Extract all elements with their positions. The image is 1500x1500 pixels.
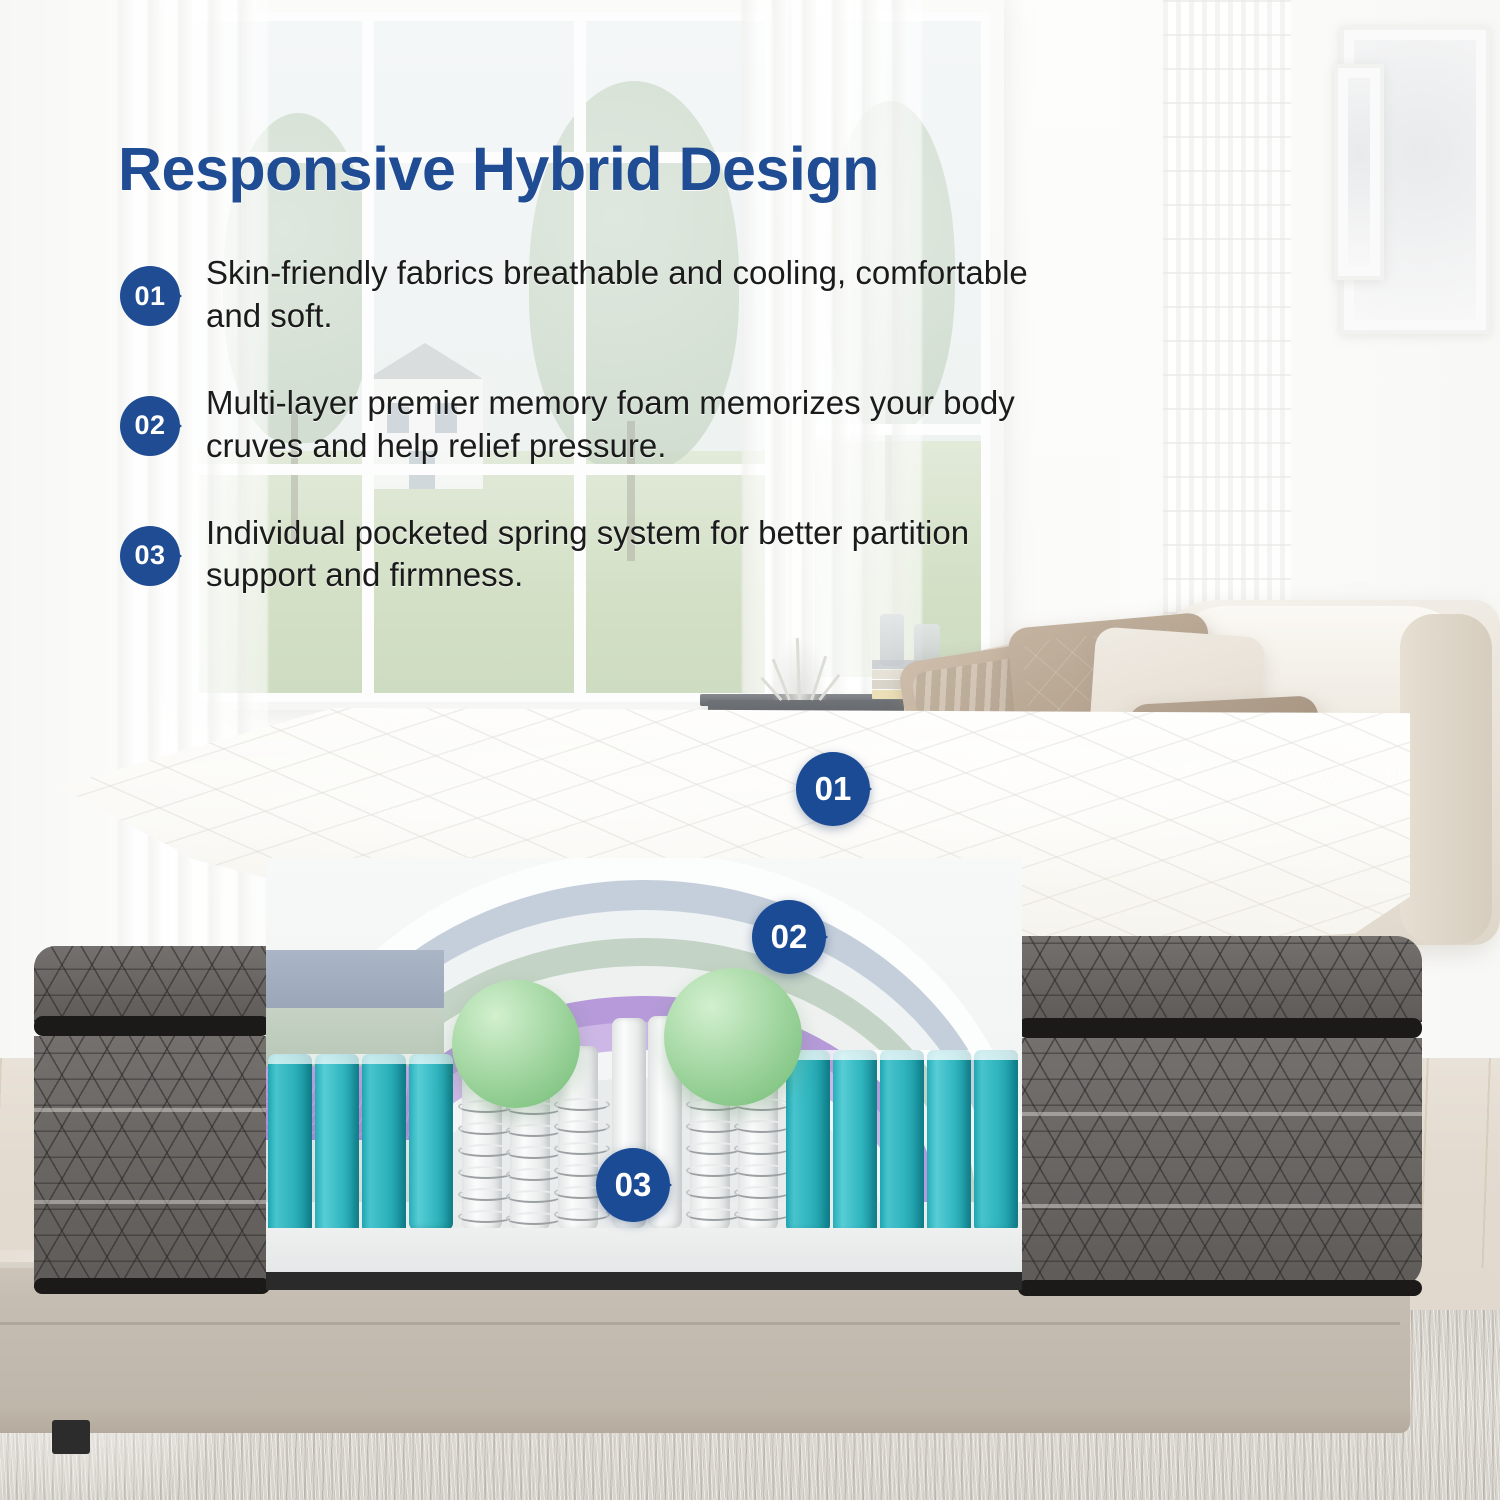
feature-item-03: 03 Individual pocketed spring system for… <box>120 512 1050 598</box>
badge-01: 01 <box>120 266 182 326</box>
side-panel-lower-right <box>1018 1038 1422 1288</box>
mattress-core-cutaway <box>266 858 1022 1290</box>
badge-02: 02 <box>120 396 182 456</box>
antler-decor <box>772 636 828 700</box>
mattress-cutaway <box>18 708 1408 1288</box>
callout-marker-02: 02 <box>752 900 830 974</box>
side-panel-lower-left <box>34 1036 270 1288</box>
foam-ball <box>664 968 802 1106</box>
piping-band <box>1018 1018 1422 1038</box>
callout-marker-01: 01 <box>796 752 874 826</box>
wall-art-small <box>1334 64 1384 280</box>
infographic-canvas: Responsive Hybrid Design 01 Skin-friendl… <box>0 0 1500 1500</box>
feature-text: Skin-friendly fabrics breathable and coo… <box>206 252 1050 338</box>
beaded-room-divider <box>1163 0 1291 640</box>
piping-band-bottom <box>34 1278 270 1294</box>
pocket-coil-bank-right <box>786 1050 1018 1236</box>
headboard-side-panel <box>1400 614 1492 944</box>
feature-item-01: 01 Skin-friendly fabrics breathable and … <box>120 252 1050 338</box>
feature-text: Multi-layer premier memory foam memorize… <box>206 382 1050 468</box>
side-panel-upper-left <box>34 946 270 1022</box>
pocket-coil-bank-left <box>268 1054 453 1240</box>
bed-leg <box>52 1420 90 1454</box>
mattress-base-shadow <box>266 1272 1022 1290</box>
badge-number: 03 <box>120 526 180 586</box>
feature-item-02: 02 Multi-layer premier memory foam memor… <box>120 382 1050 468</box>
feature-list: 01 Skin-friendly fabrics breathable and … <box>120 252 1050 641</box>
callout-number: 02 <box>752 900 826 974</box>
badge-number: 01 <box>120 266 180 326</box>
side-panel-upper-right <box>1018 936 1422 1022</box>
page-title: Responsive Hybrid Design <box>118 134 879 204</box>
callout-marker-03: 03 <box>596 1148 674 1222</box>
piping-band-bottom <box>1018 1280 1422 1296</box>
foam-ball <box>452 980 580 1108</box>
piping-band <box>34 1016 270 1036</box>
badge-number: 02 <box>120 396 180 456</box>
callout-number: 01 <box>796 752 870 826</box>
cut-layer-blue-foam <box>266 950 444 1008</box>
bed-base-seam <box>0 1322 1400 1325</box>
badge-03: 03 <box>120 526 182 586</box>
callout-number: 03 <box>596 1148 670 1222</box>
feature-text: Individual pocketed spring system for be… <box>206 512 1050 598</box>
